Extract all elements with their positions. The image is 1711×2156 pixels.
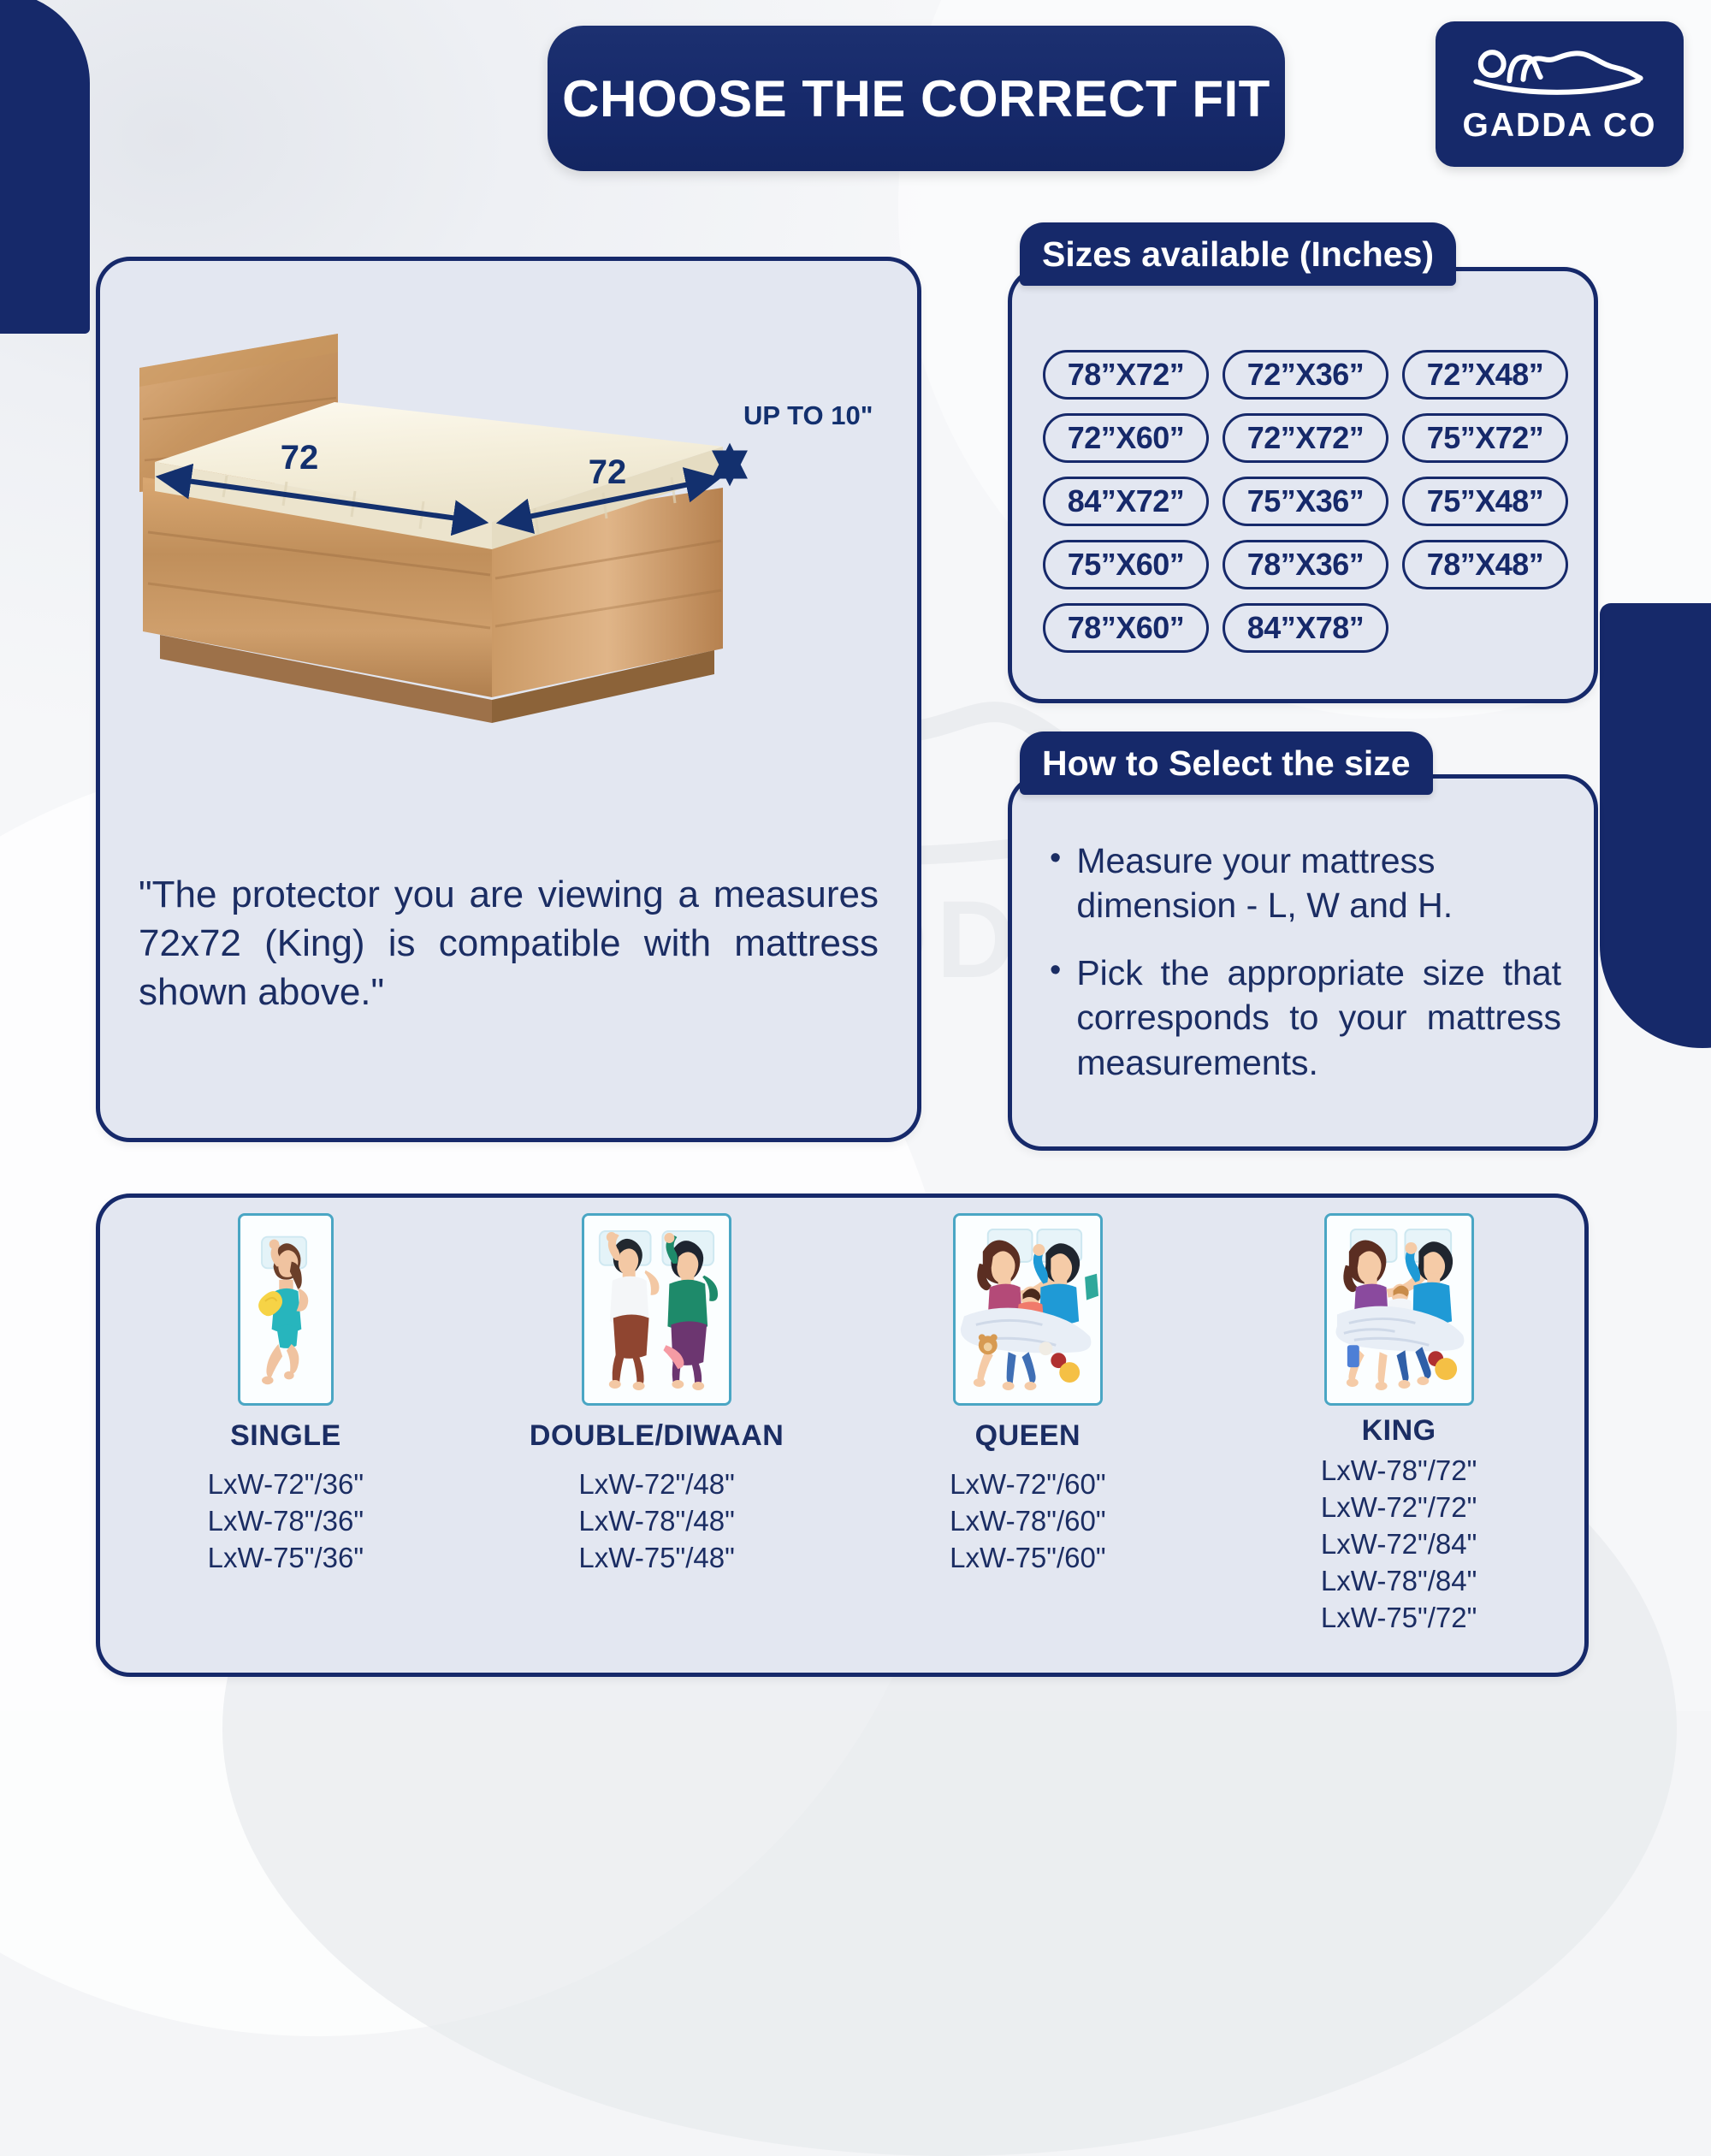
bed-illustration-panel: 72 72 UP TO 10" "The protector you are v… [96,257,921,1142]
bullet-icon: • [1050,838,1061,928]
how-to-select-tab-label: How to Select the size [1042,743,1411,784]
category-size-line: LxW-72"/48" [578,1466,734,1503]
category-size-line: LxW-75"/48" [578,1540,734,1577]
sizes-available-tab-label: Sizes available (Inches) [1042,234,1434,275]
category-sizes: LxW-72"/48" LxW-78"/48" LxW-75"/48" [578,1466,734,1577]
category-name: SINGLE [230,1419,341,1453]
brand-logo: GADDA CO [1436,21,1684,167]
category-king[interactable]: KING LxW-78"/72" LxW-72"/72" LxW-72"/84"… [1213,1198,1584,1673]
category-size-line: LxW-78"/84" [1321,1563,1477,1600]
category-size-line: LxW-72"/84" [1321,1526,1477,1563]
bullet-icon: • [1050,951,1061,1085]
sleeping-person-mattress-icon [1468,44,1652,104]
category-sizes: LxW-72"/36" LxW-78"/36" LxW-75"/36" [208,1466,364,1577]
size-chip[interactable]: 72”X48” [1402,350,1568,400]
how-to-select-panel: • Measure your mattress dimension - L, W… [1008,774,1598,1151]
category-name: DOUBLE/DIWAAN [530,1419,784,1453]
category-size-line: LxW-78"/36" [208,1503,364,1540]
category-size-line: LxW-72"/72" [1321,1490,1477,1526]
size-chip[interactable]: 75”X60” [1043,540,1209,589]
decor-navy-arch-top-left [0,0,90,334]
list-item: • Measure your mattress dimension - L, W… [1050,838,1561,928]
category-size-line: LxW-78"/72" [1321,1453,1477,1490]
two-sleepers-illustration [584,1216,729,1403]
bed-height-label: UP TO 10" [743,400,873,430]
sizes-grid: 78”X72” 72”X36” 72”X48” 72”X60” 72”X72” … [1043,350,1568,653]
page-title: CHOOSE THE CORRECT FIT [562,69,1270,128]
list-item: • Pick the appropriate size that corresp… [1050,951,1561,1085]
category-size-line: LxW-75"/72" [1321,1600,1477,1637]
how-to-select-list: • Measure your mattress dimension - L, W… [1050,838,1561,1107]
category-size-line: LxW-72"/60" [950,1466,1105,1503]
couple-with-child-illustration [956,1216,1100,1403]
size-chip[interactable]: 84”X72” [1043,477,1209,526]
size-chip-placeholder [1402,603,1568,653]
size-chip[interactable]: 72”X72” [1223,413,1388,463]
bed-size-category-row: SINGLE LxW-72"/36" LxW-78"/36" LxW-75"/3… [100,1198,1584,1673]
size-chip[interactable]: 84”X78” [1223,603,1388,653]
category-sizes: LxW-78"/72" LxW-72"/72" LxW-72"/84" LxW-… [1321,1453,1477,1636]
category-size-line: LxW-78"/60" [950,1503,1105,1540]
bed-length-label: 72 [280,439,318,477]
bed-size-categories-panel: SINGLE LxW-72"/36" LxW-78"/36" LxW-75"/3… [96,1193,1589,1677]
sizes-available-tab: Sizes available (Inches) [1020,222,1456,286]
category-queen[interactable]: QUEEN LxW-72"/60" LxW-78"/60" LxW-75"/60… [843,1198,1214,1673]
how-to-select-item-text: Measure your mattress dimension - L, W a… [1076,838,1561,928]
size-chip[interactable]: 75”X72” [1402,413,1568,463]
category-size-line: LxW-75"/36" [208,1540,364,1577]
bed-illustration-svg: 72 72 UP TO 10" [124,308,894,838]
header-banner: CHOOSE THE CORRECT FIT [548,26,1285,171]
category-name: QUEEN [975,1419,1080,1453]
size-chip[interactable]: 78”X72” [1043,350,1209,400]
category-sizes: LxW-72"/60" LxW-78"/60" LxW-75"/60" [950,1466,1105,1577]
category-size-line: LxW-75"/60" [950,1540,1105,1577]
size-chip[interactable]: 78”X48” [1402,540,1568,589]
bed-width-label: 72 [588,453,626,491]
family-with-baby-illustration [1327,1216,1471,1403]
family-with-baby-icon [1324,1213,1474,1406]
size-chip[interactable]: 72”X36” [1223,350,1388,400]
decor-navy-bar-right [1600,603,1711,1048]
two-sleepers-icon [582,1213,731,1406]
single-sleeper-illustration [240,1216,331,1403]
category-single[interactable]: SINGLE LxW-72"/36" LxW-78"/36" LxW-75"/3… [100,1198,471,1673]
compatibility-quote: "The protector you are viewing a measure… [139,870,879,1017]
category-size-line: LxW-72"/36" [208,1466,364,1503]
single-sleeper-icon [238,1213,334,1406]
category-double-diwaan[interactable]: DOUBLE/DIWAAN LxW-72"/48" LxW-78"/48" Lx… [471,1198,843,1673]
how-to-select-tab: How to Select the size [1020,731,1433,795]
size-chip[interactable]: 75”X36” [1223,477,1388,526]
size-chip[interactable]: 78”X36” [1223,540,1388,589]
size-chip[interactable]: 72”X60” [1043,413,1209,463]
how-to-select-item-text: Pick the appropriate size that correspon… [1076,951,1561,1085]
couple-with-child-icon [953,1213,1103,1406]
sizes-available-panel: 78”X72” 72”X36” 72”X48” 72”X60” 72”X72” … [1008,267,1598,703]
brand-logo-text: GADDA CO [1463,107,1657,145]
category-name: KING [1362,1414,1436,1448]
category-size-line: LxW-78"/48" [578,1503,734,1540]
size-chip[interactable]: 75”X48” [1402,477,1568,526]
bed-diagram: 72 72 UP TO 10" [100,308,917,873]
size-chip[interactable]: 78”X60” [1043,603,1209,653]
